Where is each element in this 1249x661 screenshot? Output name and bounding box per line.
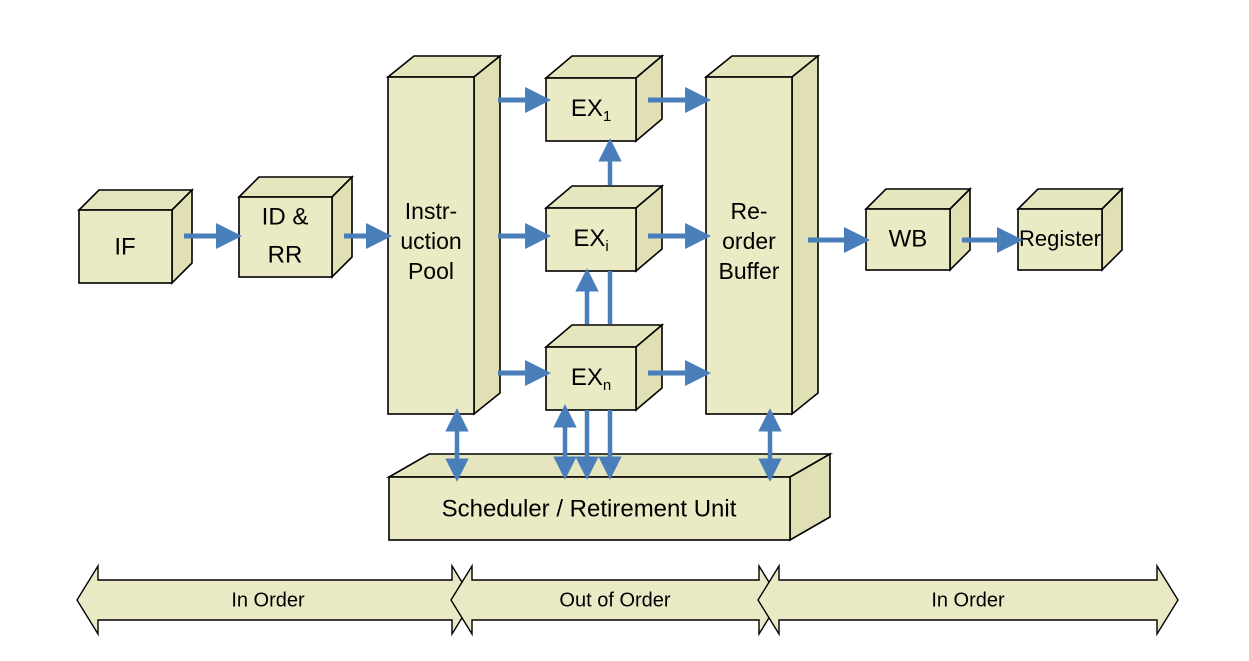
block-ex-1-subscript: 1 [603, 108, 611, 125]
block-scheduler-label: Scheduler / Retirement Unit [442, 495, 737, 522]
band-in-order-left: In Order [77, 566, 473, 634]
block-ex-n-base: EX [571, 364, 603, 391]
block-ex-1: EX1 [546, 56, 662, 141]
block-ex-i-base: EX [573, 225, 605, 252]
block-ex-n-subscript: n [603, 377, 611, 394]
diagram-canvas: IF ID & RR Instr- uction Pool EX1 [0, 0, 1249, 661]
block-wb: WB [866, 189, 970, 270]
block-reorder-buffer-label-line2: order [722, 228, 776, 254]
block-instruction-pool: Instr- uction Pool [388, 56, 500, 414]
band-in-order-left-label: In Order [231, 589, 305, 611]
band-in-order-right-label: In Order [931, 589, 1005, 611]
block-register: Register [1018, 189, 1122, 270]
block-reorder-buffer-label-line3: Buffer [719, 258, 780, 284]
block-id-rr-label-line2: RR [268, 241, 303, 268]
block-id-rr-label-line1: ID & [262, 203, 309, 230]
block-instruction-pool-label-line2: uction [400, 228, 461, 254]
block-instruction-pool-label-line3: Pool [408, 258, 454, 284]
block-ex-i: EXi [546, 186, 662, 271]
block-if-label: IF [114, 233, 135, 260]
band-in-order-right: In Order [758, 566, 1178, 634]
block-reorder-buffer-label-line1: Re- [730, 198, 767, 224]
block-register-label: Register [1019, 226, 1101, 251]
block-if: IF [79, 190, 192, 283]
block-ex-1-base: EX [571, 95, 603, 122]
block-ex-n: EXn [546, 325, 662, 410]
band-out-of-order-label: Out of Order [559, 589, 670, 611]
block-reorder-buffer: Re- order Buffer [706, 56, 818, 414]
block-instruction-pool-side [474, 56, 500, 414]
band-out-of-order: Out of Order [451, 566, 780, 634]
pipeline-diagram: IF ID & RR Instr- uction Pool EX1 [0, 0, 1249, 661]
block-ex-i-subscript: i [605, 238, 608, 255]
block-ex-i-label: EXi [573, 225, 608, 255]
block-id-rr: ID & RR [239, 177, 352, 277]
block-wb-label: WB [889, 225, 928, 252]
block-instruction-pool-label-line1: Instr- [405, 198, 457, 224]
block-reorder-buffer-side [792, 56, 818, 414]
